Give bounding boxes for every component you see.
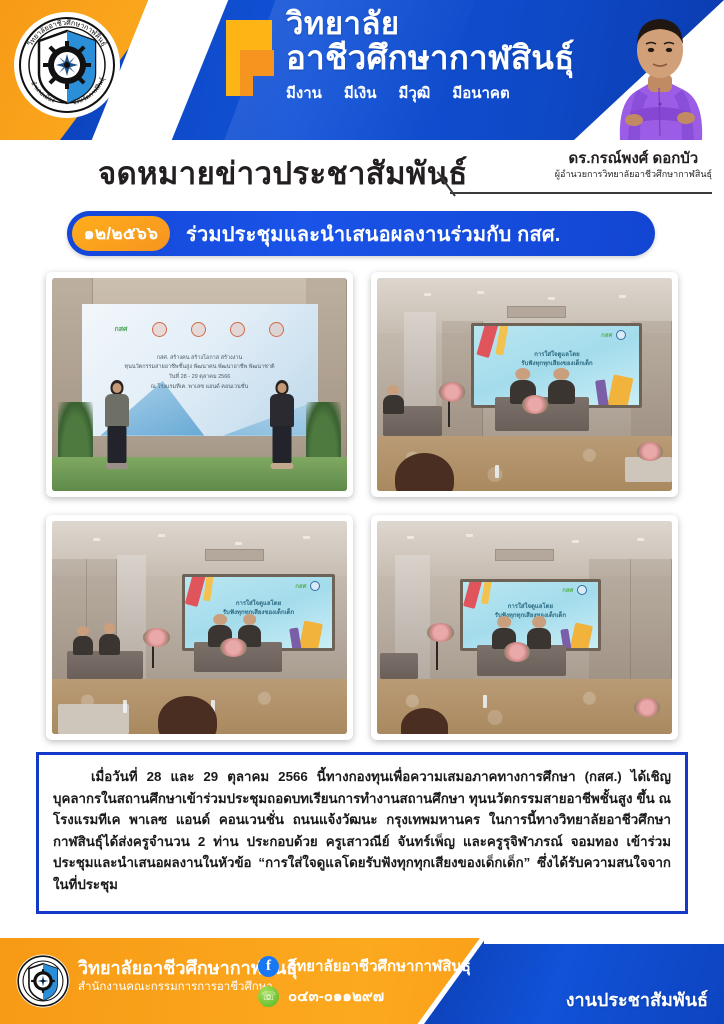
page-title: จดหมายข่าวประชาสัมพันธ์ (98, 148, 468, 198)
photo-conference-stage-wide: กสศ การใส่ใจดูแลโดย รับฟังทุกทุกเสียงของ… (377, 278, 672, 491)
title-row: จดหมายข่าวประชาสัมพันธ์ ดร.กรณ์พงศ์ ดอกบ… (0, 148, 724, 206)
facebook-contact[interactable]: f วิทยาลัยอาชีวศึกษากาฬสินธุ์ (258, 954, 471, 978)
article-paragraph: เมื่อวันที่ 28 และ 29 ตุลาคม 2566 นี้ทาง… (53, 766, 671, 895)
footer-contacts: f วิทยาลัยอาชีวศึกษากาฬสินธุ์ ☏ ๐๔๓-๐๑๑๒… (258, 954, 471, 1008)
photo-card-3[interactable]: กสศ การใส่ใจดูแลโดย รับฟังทุกทุกเสียงของ… (46, 515, 353, 740)
backdrop-line-2: ทุนนวัตกรรมสายอาชีพชั้นสูง พัฒนาคน พัฒนา… (96, 363, 304, 373)
screen-seal-icon (577, 585, 587, 595)
issue-badge: ๑๒/๒๕๖๖ (72, 216, 170, 251)
backdrop-seal-4 (269, 322, 284, 337)
backdrop-kosok-logo: กสศ (115, 324, 128, 335)
backdrop-logos: กสศ (115, 322, 285, 337)
photo-card-2[interactable]: กสศ การใส่ใจดูแลโดย รับฟังทุกทุกเสียงของ… (371, 272, 678, 497)
screen-title: การใส่ใจดูแลโดย รับฟังทุกทุกเสียงของเด็ก… (476, 603, 585, 621)
photo-card-4[interactable]: กสศ การใส่ใจดูแลโดย รับฟังทุกทุกเสียงของ… (371, 515, 678, 740)
screen-line-1: การใส่ใจดูแลโดย (200, 600, 318, 609)
screen-title: การใส่ใจดูแลโดย รับฟังทุกทุกเสียงของเด็ก… (491, 351, 623, 369)
phone-icon: ☏ (258, 986, 279, 1007)
director-portrait (604, 4, 716, 140)
photo-card-1[interactable]: กสศ กสศ. สร้างคน สร้างโอกาส สร้างงาน ทุน… (46, 272, 353, 497)
director-role: ผู้อำนวยการวิทยาลัยอาชีวศึกษากาฬสินธุ์ (555, 169, 712, 179)
screen-seal-icon (310, 581, 320, 591)
page-header: วิทยาลัยอาชีวศึกษากาฬสินธุ์ อำเภอเมือง จ… (0, 0, 724, 140)
photo-grid: กสศ กสศ. สร้างคน สร้างโอกาส สร้างงาน ทุน… (46, 272, 678, 742)
director-credit: ดร.กรณ์พงศ์ ดอกบัว ผู้อำนวยการวิทยาลัยอา… (555, 150, 712, 180)
screen-kosok-logo: กสศ (562, 585, 573, 595)
page-footer: วิทยาลัยอาชีวศึกษากาฬสินธุ์ สำนักงานคณะก… (0, 930, 724, 1024)
article-text-box: เมื่อวันที่ 28 และ 29 ตุลาคม 2566 นี้ทาง… (36, 752, 688, 914)
f-logo-mark-icon (226, 20, 278, 96)
header-title-block: วิทยาลัย อาชีวศึกษากาฬสินธุ์ มีงาน มีเงิ… (286, 8, 575, 105)
photo-backdrop-two-teachers: กสศ กสศ. สร้างคน สร้างโอกาส สร้างงาน ทุน… (52, 278, 347, 491)
backdrop-seal-1 (152, 322, 167, 337)
facebook-icon: f (258, 956, 279, 977)
subtitle-text: ร่วมประชุมและนำเสนอผลงานร่วมกับ กสศ. (186, 218, 561, 250)
screen-kosok-logo: กสศ (295, 581, 306, 591)
header-college-line1: วิทยาลัย (286, 8, 575, 39)
backdrop-seal-3 (230, 322, 245, 337)
backdrop-seal-2 (191, 322, 206, 337)
screen-kosok-logo: กสศ (601, 330, 612, 340)
teacher-left (102, 380, 132, 472)
footer-white-top (484, 930, 724, 944)
director-underline (450, 192, 712, 194)
footer-department-label: งานประชาสัมพันธ์ (566, 985, 708, 1014)
header-slogans: มีงาน มีเงิน มีวุฒิ มีอนาคต (286, 81, 575, 105)
screen-line-2: รับฟังทุกทุกเสียงของเด็กเด็ก (476, 612, 585, 621)
facebook-label: วิทยาลัยอาชีวศึกษากาฬสินธุ์ (288, 954, 471, 978)
slogan-4: มีอนาคต (452, 81, 509, 105)
issue-subtitle-bar: ๑๒/๒๕๖๖ ร่วมประชุมและนำเสนอผลงานร่วมกับ … (67, 211, 655, 256)
director-name: ดร.กรณ์พงศ์ ดอกบัว (555, 150, 712, 167)
header-college-line2: อาชีวศึกษากาฬสินธุ์ (286, 41, 575, 76)
newsletter-page: วิทยาลัยอาชีวศึกษากาฬสินธุ์ อำเภอเมือง จ… (0, 0, 724, 1024)
slogan-1: มีงาน (286, 81, 322, 105)
slogan-3: มีวุฒิ (398, 81, 430, 105)
screen-line-1: การใส่ใจดูแลโดย (491, 351, 623, 360)
college-seal-icon: วิทยาลัยอาชีวศึกษากาฬสินธุ์ อำเภอเมือง จ… (14, 12, 120, 118)
teacher-right (267, 380, 297, 472)
photo-conference-room-audience: กสศ การใส่ใจดูแลโดย รับฟังทุกทุกเสียงของ… (52, 521, 347, 734)
slogan-2: มีเงิน (344, 81, 377, 105)
screen-line-1: การใส่ใจดูแลโดย (476, 603, 585, 612)
phone-label: ๐๔๓-๐๑๑๒๙๗ (288, 984, 384, 1008)
screen-seal-icon (616, 330, 626, 340)
phone-contact[interactable]: ☏ ๐๔๓-๐๑๑๒๙๗ (258, 984, 471, 1008)
backdrop-line-1: กสศ. สร้างคน สร้างโอกาส สร้างงาน (96, 354, 304, 364)
photo-conference-panel-closeup: กสศ การใส่ใจดูแลโดย รับฟังทุกทุกเสียงของ… (377, 521, 672, 734)
footer-college-seal-icon (16, 954, 70, 1008)
